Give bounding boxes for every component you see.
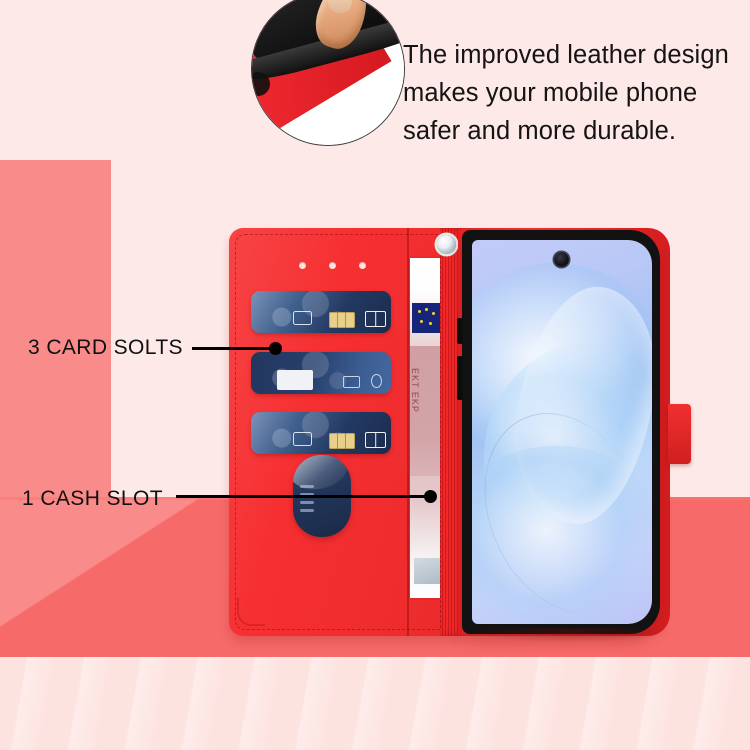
headline-text: The improved leather design makes your m… [403,36,743,150]
phone-volume-button [457,356,463,400]
card-icon-oval [371,374,382,388]
banknote-hologram-strip [414,558,440,584]
card-white-block [277,370,313,390]
banknote-microtext: EKT EKP [410,368,420,413]
callout-label-cash-slot: 1 CASH SLOT [22,487,163,511]
backdrop-floor-shadow-wedge [0,497,250,658]
wallet-punch-dots [299,262,377,270]
backdrop-bottom-rays [0,657,750,750]
product-feature-graphic: The improved leather design makes your m… [0,0,750,750]
cash-slot-lines [300,485,316,519]
card-logo-icon [365,311,386,327]
card-logo-icon [365,432,386,448]
callout-leader-line-card-slots [192,347,276,350]
card-slot [251,412,391,454]
punch-dot [299,262,306,269]
headline-line-1: The improved leather design [403,36,743,74]
phone-side-button [457,318,463,344]
card-artwork [251,352,391,394]
card-icon-square [293,311,312,325]
wallet-fold-line [407,228,409,636]
card-icon-square [293,432,312,446]
magnetic-closure-tab [668,404,691,464]
wallet-corner-crease [237,598,265,626]
callout-leader-dot-card-slots [269,342,282,355]
banknote-denomination: 10 [410,262,414,286]
phone-screen [472,240,652,624]
headline-line-3: safer and more durable. [403,112,743,150]
callout-leader-dot-cash-slot [424,490,437,503]
headline-line-2: makes your mobile phone [403,74,743,112]
phone-drop-shadow [470,628,670,642]
callout-label-card-slots: 3 CARD SOLTS [28,336,183,360]
front-camera-icon [554,252,569,267]
card-chip-icon [329,433,355,449]
magnetic-closure-ring-icon [437,235,456,254]
spine-stitching [440,236,441,628]
leather-flap-closeup-photo [251,0,405,146]
callout-leader-line-cash-slot [176,495,431,498]
banknote-eu-flag-icon [412,303,440,333]
card-icon-square [343,376,360,388]
banknote-large-numeral: 10 [410,494,412,536]
card-slot [251,291,391,333]
card-chip-icon [329,312,355,328]
euro-banknote: 10 EKT EKP 10 [410,258,444,598]
card-slot [251,352,391,394]
punch-dot [329,262,336,269]
punch-dot [359,262,366,269]
